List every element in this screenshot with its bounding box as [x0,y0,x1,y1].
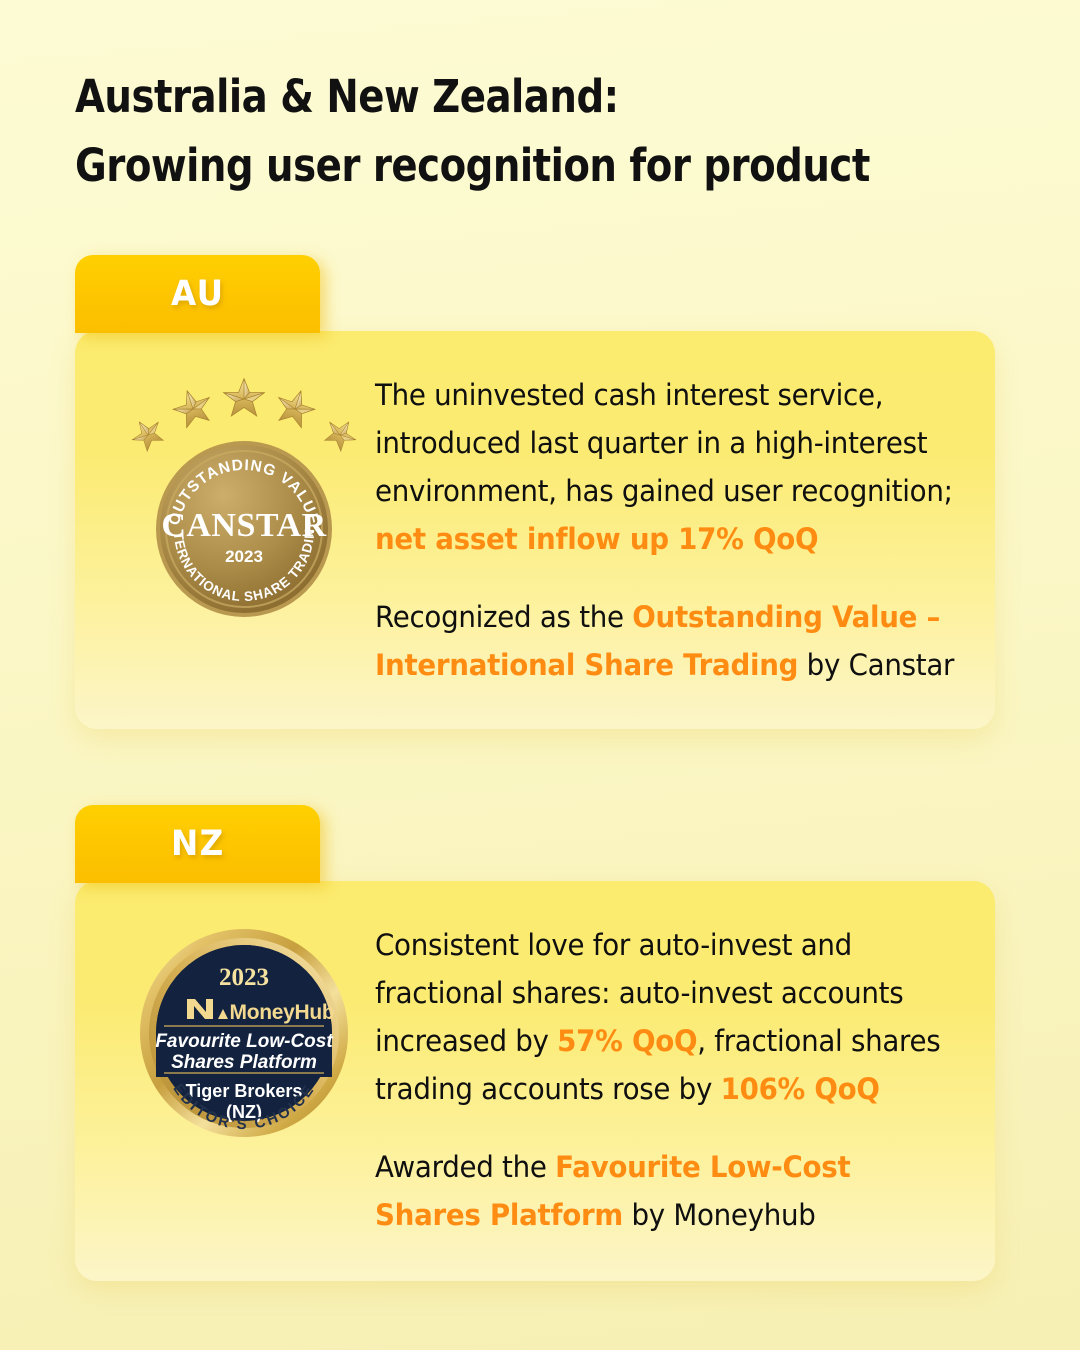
body-text: The uninvested cash interest service, in… [375,378,953,508]
text-column-nz: Consistent love for auto-invest and frac… [375,915,957,1239]
title-line-1: Australia & New Zealand: [75,62,866,131]
title-line-2: Growing user recognition for product [75,131,866,200]
tab-nz[interactable]: NZ [75,805,320,883]
moneyhub-award-line-1: Favourite Low-Cost [155,1031,333,1052]
badge-column-nz: 2023 MoneyHub Favourite Low-Cost Shares … [113,915,375,1139]
paragraph-nz-1: Consistent love for auto-invest and frac… [375,921,956,1113]
highlighted-text: 57% QoQ [557,1024,697,1058]
section-nz: NZ [75,805,995,1281]
section-au: AU [75,255,995,729]
paragraph-au-1: The uninvested cash interest service, in… [375,371,956,563]
body-text: Recognized as the [375,600,632,634]
infographic-page: Australia & New Zealand: Growing user re… [0,0,1080,1350]
canstar-year-text: 2023 [225,547,263,566]
highlighted-text: net asset inflow up 17% QoQ [375,522,818,556]
moneyhub-medallion-icon: 2023 MoneyHub Favourite Low-Cost Shares … [138,927,350,1139]
moneyhub-recipient-line-1: Tiger Brokers [186,1081,303,1101]
canstar-award-badge: OUTSTANDING VALUE CANSTAR 2023 INTERNATI… [126,377,362,601]
moneyhub-brand-text: MoneyHub [230,1001,335,1024]
highlighted-text: 106% QoQ [721,1072,880,1106]
paragraph-au-2: Recognized as the Outstanding Value – In… [375,593,956,689]
paragraph-nz-2: Awarded the Favourite Low-Cost Shares Pl… [375,1143,956,1239]
moneyhub-year-text: 2023 [219,964,269,991]
body-text: by Moneyhub [623,1198,816,1232]
body-text: by Canstar [798,648,954,682]
moneyhub-award-line-2: Shares Platform [171,1052,317,1073]
body-text: Awarded the [375,1150,555,1184]
text-column-au: The uninvested cash interest service, in… [375,365,957,689]
card-nz: 2023 MoneyHub Favourite Low-Cost Shares … [75,881,995,1281]
badge-column-au: OUTSTANDING VALUE CANSTAR 2023 INTERNATI… [113,365,375,601]
card-au: OUTSTANDING VALUE CANSTAR 2023 INTERNATI… [75,331,995,729]
canstar-medallion-icon: OUTSTANDING VALUE CANSTAR 2023 INTERNATI… [154,439,334,619]
tab-au[interactable]: AU [75,255,320,333]
tab-au-label: AU [171,274,224,314]
moneyhub-award-badge: 2023 MoneyHub Favourite Low-Cost Shares … [138,927,350,1139]
tab-nz-label: NZ [171,824,225,864]
page-title: Australia & New Zealand: Growing user re… [75,62,995,200]
